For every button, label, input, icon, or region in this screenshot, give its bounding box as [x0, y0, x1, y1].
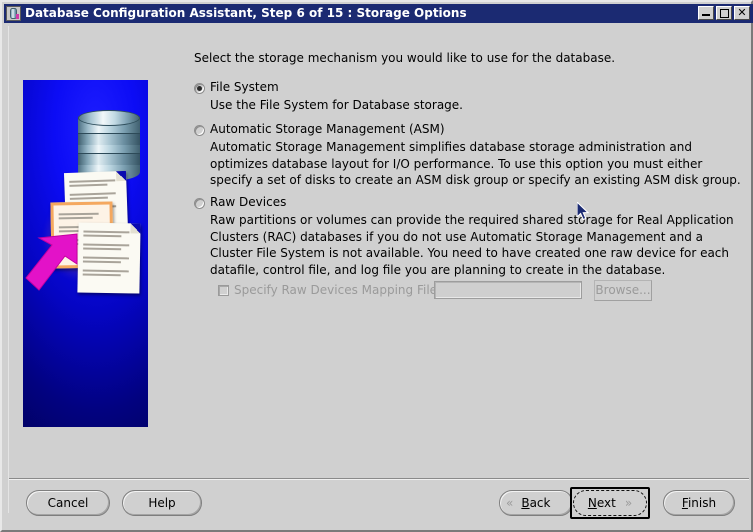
option-asm[interactable]: Automatic Storage Management (ASM) Autom…: [194, 122, 748, 189]
application-window: Database Configuration Assistant, Step 6…: [0, 0, 753, 532]
window-controls: ✕: [698, 6, 750, 20]
title-bar: Database Configuration Assistant, Step 6…: [4, 4, 753, 23]
next-mnemonic: N: [588, 496, 597, 510]
option-description: Use the File System for Database storage…: [210, 97, 463, 114]
cancel-button[interactable]: Cancel: [26, 490, 110, 516]
maximize-button[interactable]: [716, 6, 732, 20]
minimize-button[interactable]: [698, 6, 714, 20]
chevron-right-icon: »: [625, 497, 632, 509]
database-icon: [6, 6, 21, 21]
option-description: Raw partitions or volumes can provide th…: [210, 212, 748, 278]
content-left-border: [8, 26, 9, 513]
next-button[interactable]: Next »: [573, 490, 647, 516]
arrow-pointer-graphic: [25, 228, 81, 292]
next-rest: ext: [597, 496, 616, 510]
back-rest: ack: [530, 496, 551, 510]
window-title: Database Configuration Assistant, Step 6…: [25, 4, 467, 23]
finish-rest: inish: [688, 496, 716, 510]
checkbox-specify-mapping-file[interactable]: [218, 285, 229, 296]
finish-button-label: Finish: [682, 496, 716, 510]
browse-button[interactable]: Browse...: [594, 280, 652, 301]
back-button-label: Back: [521, 496, 550, 510]
option-label: Automatic Storage Management (ASM): [210, 122, 445, 137]
radio-file-system[interactable]: [194, 83, 205, 94]
mapping-file-input[interactable]: [434, 281, 582, 299]
back-button[interactable]: « Back: [499, 490, 573, 516]
footer-separator: [9, 478, 749, 480]
chevron-left-icon: «: [506, 497, 513, 509]
option-label: Raw Devices: [210, 195, 286, 210]
close-button[interactable]: ✕: [734, 6, 750, 20]
finish-button[interactable]: Finish: [663, 490, 735, 516]
radio-asm[interactable]: [194, 125, 205, 136]
document-graphic: [77, 222, 140, 293]
option-description: Automatic Storage Management simplifies …: [210, 139, 748, 189]
close-icon: ✕: [735, 7, 749, 19]
next-button-label: Next: [588, 496, 616, 510]
help-button[interactable]: Help: [122, 490, 202, 516]
next-button-focus-ring: Next »: [570, 487, 650, 519]
option-file-system[interactable]: File System Use the File System for Data…: [194, 80, 463, 114]
instruction-text: Select the storage mechanism you would l…: [194, 51, 615, 65]
back-mnemonic: B: [521, 496, 529, 510]
radio-raw-devices[interactable]: [194, 198, 205, 209]
mouse-cursor: [577, 202, 591, 226]
option-label: File System: [210, 80, 279, 95]
option-raw-devices[interactable]: Raw Devices Raw partitions or volumes ca…: [194, 195, 748, 278]
checkbox-label: Specify Raw Devices Mapping File: [234, 283, 437, 297]
illustration-panel: [23, 80, 148, 427]
mapping-file-checkbox-row[interactable]: Specify Raw Devices Mapping File: [218, 283, 437, 297]
